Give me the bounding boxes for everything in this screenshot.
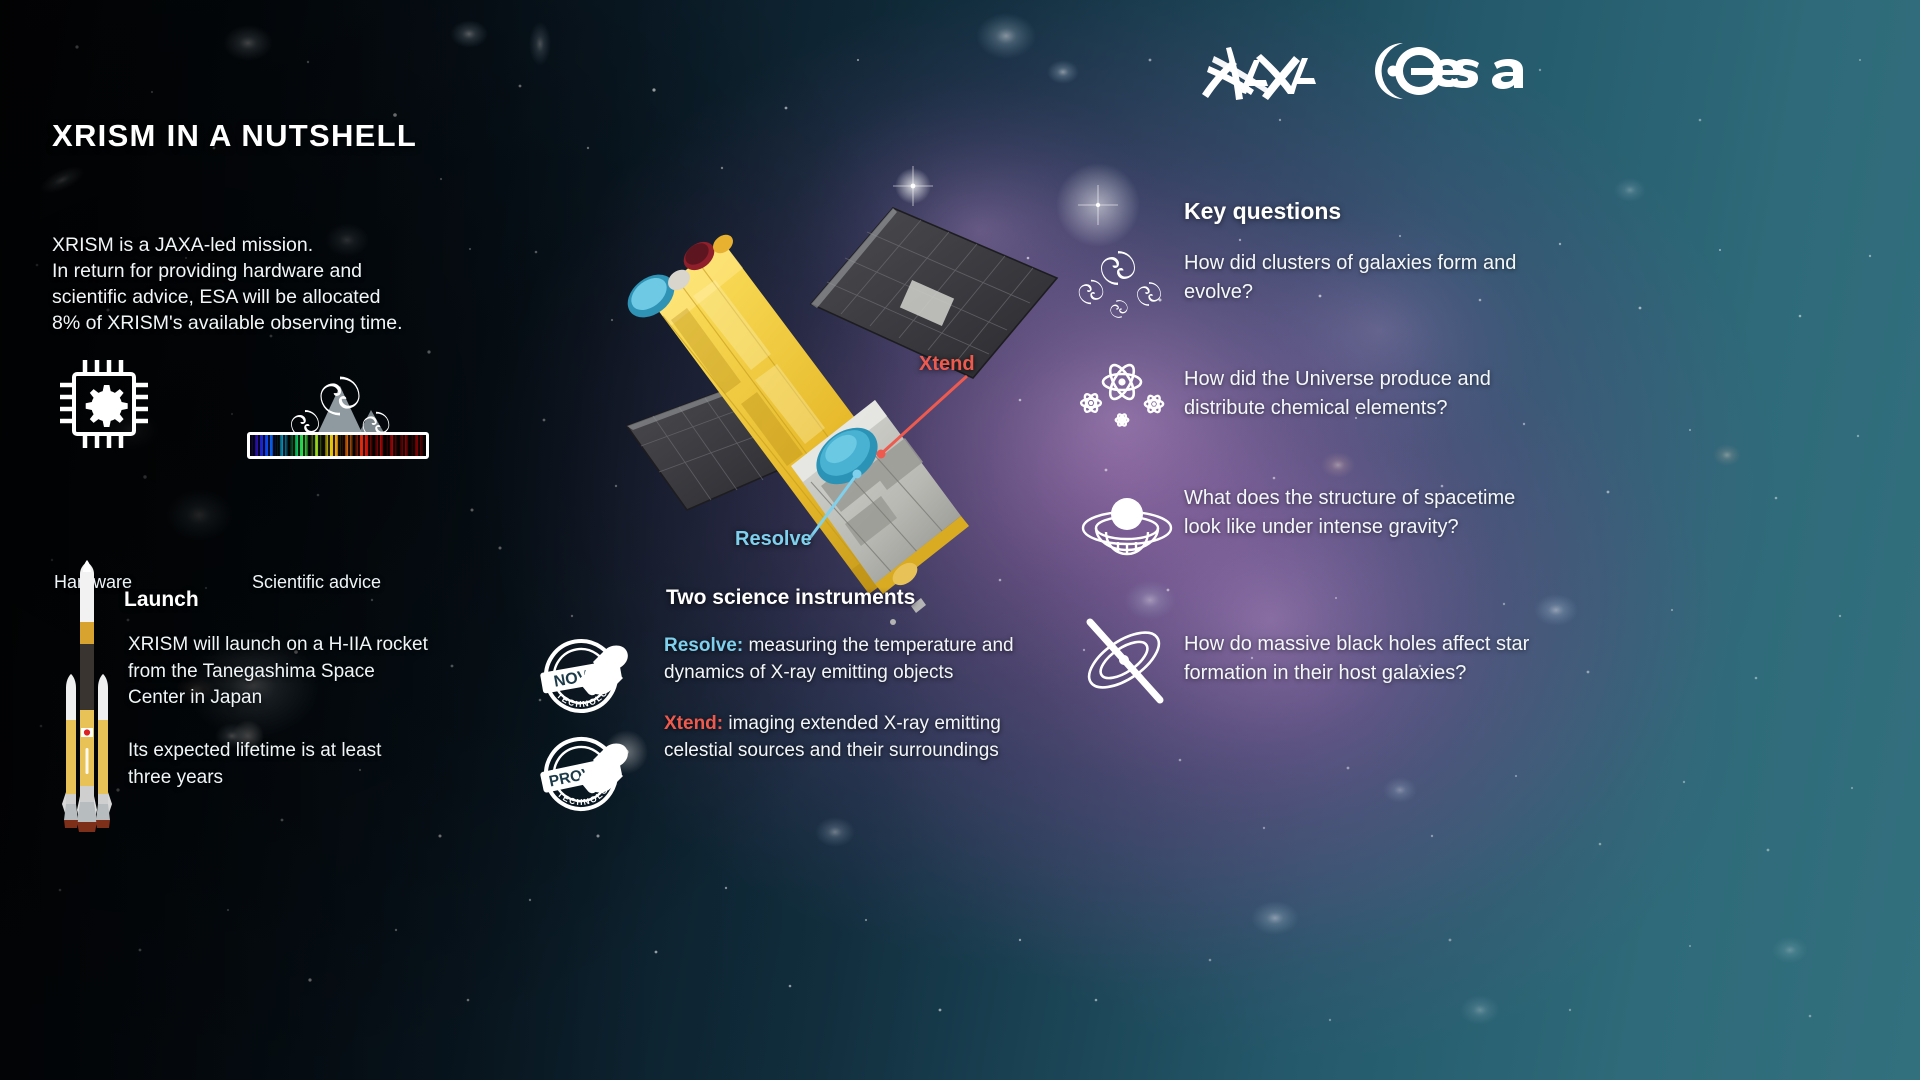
key-question-1-text: How did clusters of galaxies form and ev… [1184, 249, 1536, 306]
intro-line-3: scientific advice, ESA will be allocated [52, 284, 452, 310]
intro-line-1: XRISM is a JAXA-led mission. [52, 232, 452, 258]
rocket-icon [50, 560, 124, 850]
instruments-heading: Two science instruments [666, 586, 915, 610]
jaxa-logo [1196, 42, 1326, 104]
xtend-callout-line [875, 368, 1005, 458]
atoms-icon [1078, 358, 1174, 438]
intro-line-4: 8% of XRISM's available observing time. [52, 310, 452, 336]
key-question-2-text: How did the Universe produce and distrib… [1184, 365, 1536, 422]
infographic-canvas: XRISM IN A NUTSHELL XRISM is a JAXA-led … [0, 0, 1920, 1080]
launch-paragraph-2: Its expected lifetime is at least three … [128, 738, 428, 791]
spectrum-bar [247, 432, 429, 459]
key-questions-heading: Key questions [1184, 198, 1341, 225]
launch-paragraph-1: XRISM will launch on a H-IIA rocket from… [128, 632, 428, 712]
intro-paragraph: XRISM is a JAXA-led mission. In return f… [52, 232, 452, 336]
instrument-resolve-text: Resolve: measuring the temperature and d… [664, 632, 1034, 686]
proven-technology-badge: PROVEN TECHNOLOGY [527, 718, 645, 818]
instrument-resolve-name: Resolve: [664, 635, 743, 656]
esa-logo [1375, 42, 1530, 100]
novel-technology-badge: NOVEL TECHNOLOGY [527, 620, 645, 720]
key-question-3-text: What does the structure of spacetime loo… [1184, 484, 1536, 541]
instrument-xtend-name: Xtend: [664, 713, 723, 734]
key-question-4-text: How do massive black holes affect star f… [1184, 630, 1536, 687]
intro-line-2: In return for providing hardware and [52, 258, 452, 284]
black-hole-jet-icon [1072, 610, 1176, 710]
scientific-advice-label: Scientific advice [252, 572, 381, 593]
launch-heading: Launch [124, 588, 199, 612]
page-title: XRISM IN A NUTSHELL [52, 118, 417, 154]
galaxy-cluster-icon [1078, 242, 1172, 318]
microchip-gear-icon [52, 352, 156, 456]
gravity-well-icon [1078, 484, 1176, 562]
callout-xtend: Xtend [919, 353, 975, 376]
callout-resolve: Resolve [735, 528, 812, 551]
instrument-xtend-text: Xtend: imaging extended X-ray emitting c… [664, 710, 1034, 764]
